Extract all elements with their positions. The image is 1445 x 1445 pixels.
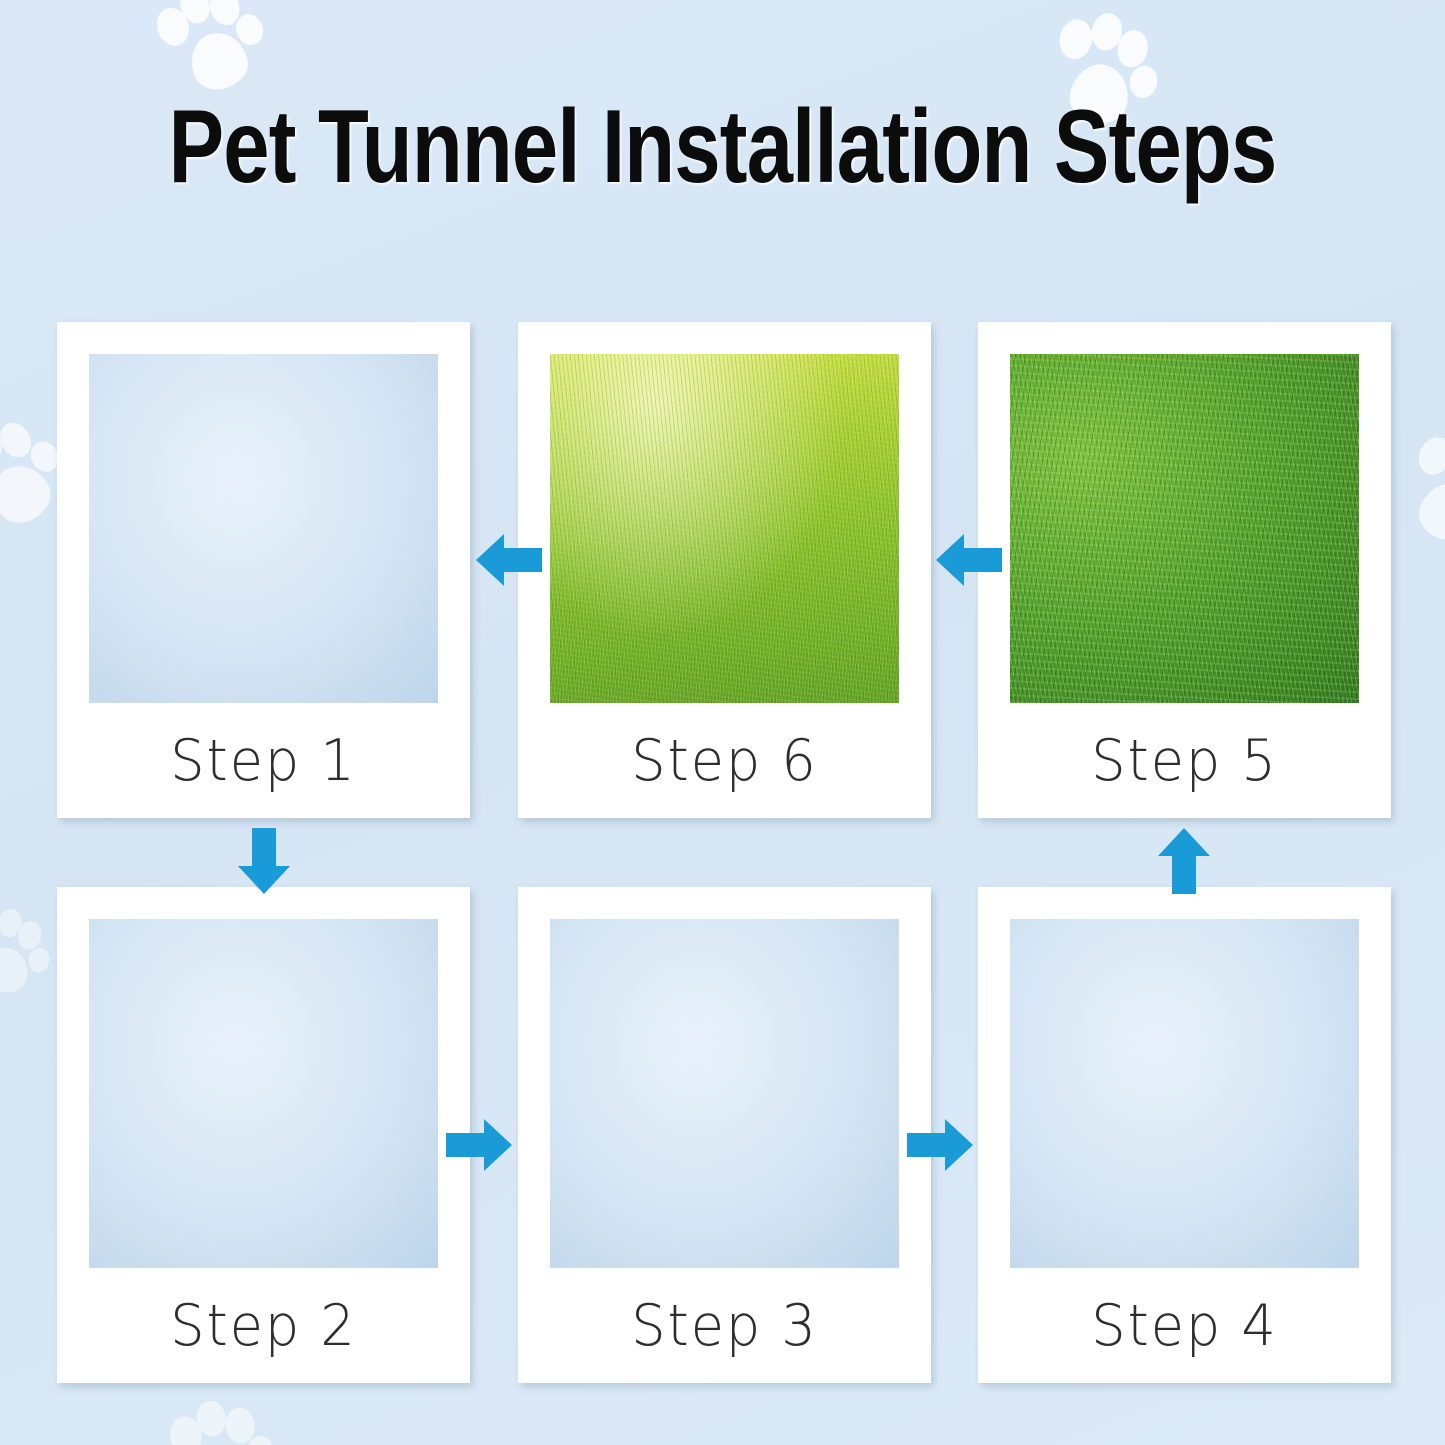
flow-arrow-4-to-5 <box>1152 826 1216 896</box>
step-2-label: Step 2 <box>170 1292 356 1358</box>
step-3-caption: Step 3 <box>518 1268 931 1383</box>
page-title: Pet Tunnel Installation Steps <box>145 92 1301 202</box>
step-6-label: Step 6 <box>631 727 817 793</box>
paw-print-icon <box>152 1387 288 1445</box>
step-card-5[interactable]: Step 5 <box>978 322 1391 818</box>
step-3-photo <box>550 919 899 1268</box>
step-card-3[interactable]: Step 3 <box>518 887 931 1383</box>
flow-arrow-5-to-6 <box>934 528 1004 592</box>
flow-arrow-3-to-4 <box>905 1113 975 1177</box>
arrow-left-icon <box>474 528 544 592</box>
step-card-6[interactable]: Step 6 <box>518 322 931 818</box>
step-4-caption: Step 4 <box>978 1268 1391 1383</box>
step-1-label: Step 1 <box>170 727 356 793</box>
grass-backdrop-dark <box>1010 354 1359 703</box>
step-5-caption: Step 5 <box>978 703 1391 818</box>
paw-print-icon <box>0 897 63 1007</box>
arrow-right-icon <box>905 1113 975 1177</box>
step-6-caption: Step 6 <box>518 703 931 818</box>
step-4-label: Step 4 <box>1091 1292 1277 1358</box>
arrow-right-icon <box>444 1113 514 1177</box>
step-card-2[interactable]: Step 2 <box>57 887 470 1383</box>
step-6-photo <box>550 354 899 703</box>
flow-arrow-1-to-2 <box>232 826 296 896</box>
infographic-canvas: Pet Tunnel Installation Steps <box>0 0 1445 1445</box>
step-card-4[interactable]: Step 4 <box>978 887 1391 1383</box>
step-5-photo <box>1010 354 1359 703</box>
studio-backdrop <box>89 354 438 703</box>
studio-backdrop <box>550 919 899 1268</box>
flow-arrow-2-to-3 <box>444 1113 514 1177</box>
step-4-photo <box>1010 919 1359 1268</box>
flow-arrow-6-to-1 <box>474 528 544 592</box>
studio-backdrop <box>1010 919 1359 1268</box>
arrow-up-icon <box>1152 826 1216 896</box>
arrow-down-icon <box>232 826 296 896</box>
step-3-label: Step 3 <box>631 1292 817 1358</box>
step-1-photo <box>89 354 438 703</box>
step-5-label: Step 5 <box>1091 727 1277 793</box>
grass-backdrop <box>550 354 899 703</box>
step-2-photo <box>89 919 438 1268</box>
arrow-left-icon <box>934 528 1004 592</box>
step-card-1[interactable]: Step 1 <box>57 322 470 818</box>
studio-backdrop <box>89 919 438 1268</box>
step-1-caption: Step 1 <box>57 703 470 818</box>
step-2-caption: Step 2 <box>57 1268 470 1383</box>
